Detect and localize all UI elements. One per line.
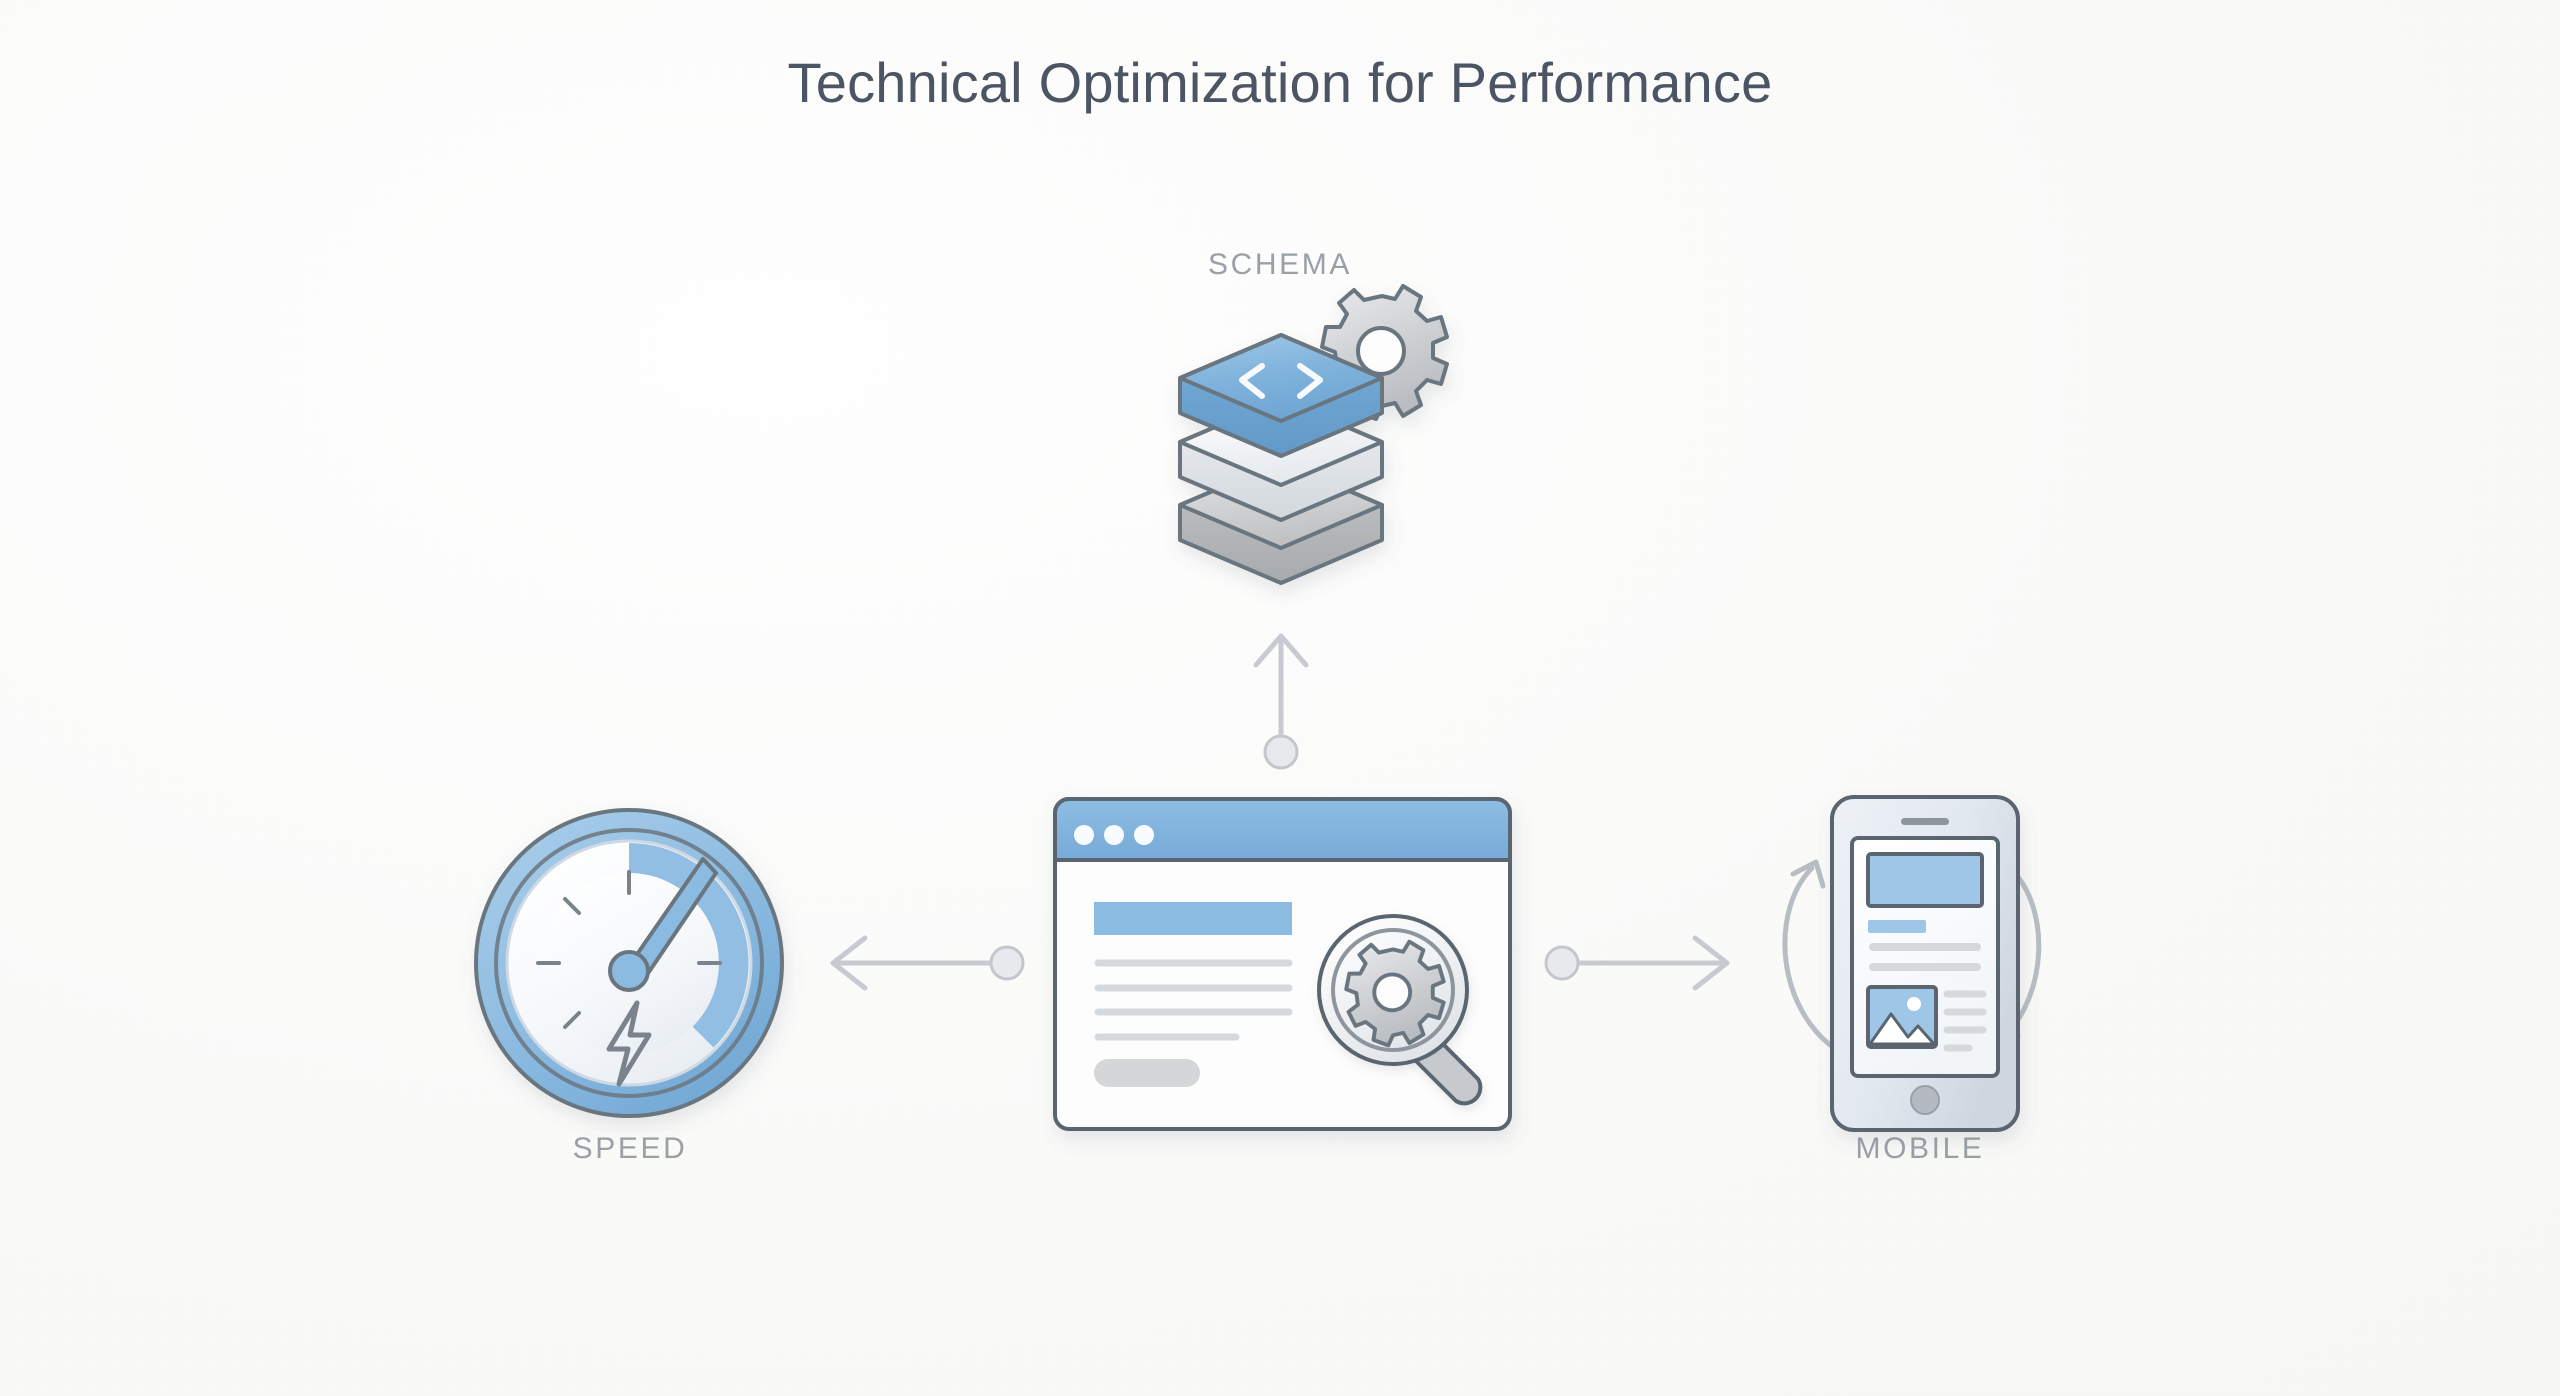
window-dot [1074, 825, 1094, 845]
schema-database-stack-icon [1180, 286, 1447, 583]
window-dot [1104, 825, 1124, 845]
connector-browser-to-schema [1256, 636, 1306, 768]
speaker-slot [1901, 818, 1949, 825]
speedometer-gauge-icon [476, 810, 782, 1116]
connector-node-dot [991, 947, 1023, 979]
screen-accent-line [1868, 920, 1926, 933]
screen-banner [1868, 854, 1982, 906]
content-heading-bar [1094, 902, 1292, 935]
window-dot [1134, 825, 1154, 845]
connector-browser-to-speed [833, 938, 1023, 988]
connector-node-dot [1265, 736, 1297, 768]
connector-node-dot [1546, 947, 1578, 979]
rotation-arrow-left [1785, 862, 1830, 1045]
diagram-canvas: Technical Optimization for Performance S… [0, 0, 2560, 1396]
diagram-graphics [0, 0, 2560, 1396]
connector-browser-to-mobile [1546, 938, 1727, 988]
window-control-dots [1074, 825, 1154, 845]
smartphone-responsive-icon [1785, 797, 2039, 1130]
image-placeholder-icon [1868, 987, 1936, 1047]
home-button [1911, 1086, 1939, 1114]
content-button-pill [1094, 1059, 1200, 1087]
